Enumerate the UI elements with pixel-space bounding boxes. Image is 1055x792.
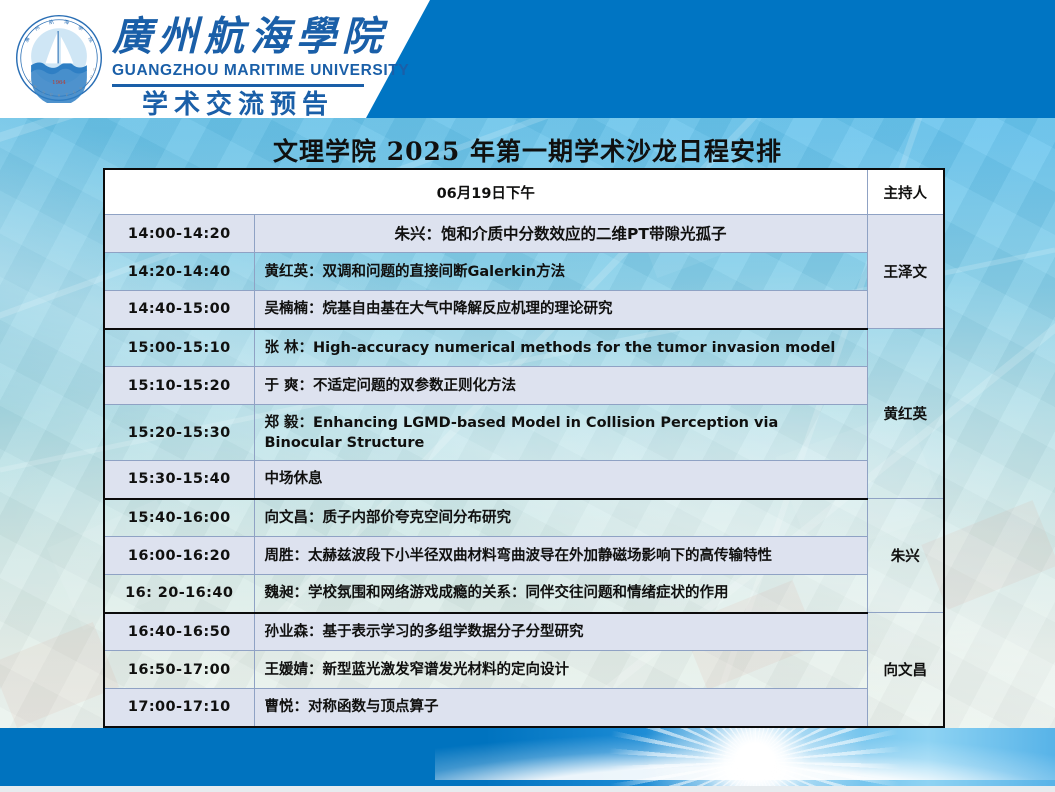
cell-topic: 孙业森：基于表示学习的多组学数据分子分型研究 bbox=[254, 613, 867, 651]
cell-host: 向文昌 bbox=[867, 613, 944, 727]
cell-time: 16:50-17:00 bbox=[104, 651, 254, 689]
cell-time: 15:20-15:30 bbox=[104, 405, 254, 461]
table-row: 16:50-17:00王媛婧：新型蓝光激发窄谱发光材料的定向设计 bbox=[104, 651, 944, 689]
university-seal-icon: 1964 廣 州 航 海 學 院 G U A N G Z H O U M U bbox=[14, 13, 104, 103]
table-row: 14:40-15:00吴楠楠：烷基自由基在大气中降解反应机理的理论研究 bbox=[104, 291, 944, 329]
table-row: 16:00-16:20周胜：太赫兹波段下小半径双曲材料弯曲波导在外加静磁场影响下… bbox=[104, 537, 944, 575]
cell-time: 17:00-17:10 bbox=[104, 689, 254, 727]
table-row: 15:10-15:20于 爽：不适定问题的双参数正则化方法 bbox=[104, 367, 944, 405]
table-row: 15:20-15:30郑 毅：Enhancing LGMD-based Mode… bbox=[104, 405, 944, 461]
page-bottom-edge bbox=[0, 786, 1055, 792]
cell-time: 14:20-14:40 bbox=[104, 253, 254, 291]
cell-host: 王泽文 bbox=[867, 215, 944, 329]
sunburst-icon bbox=[605, 728, 905, 786]
schedule-table-container: 06月19日下午 主持人 14:00-14:20朱兴：饱和介质中分数效应的二维P… bbox=[103, 168, 943, 728]
footer-decoration-band bbox=[0, 728, 1055, 786]
svg-text:1964: 1964 bbox=[52, 80, 66, 86]
cell-topic: 黄红英：双调和问题的直接间断Galerkin方法 bbox=[254, 253, 867, 291]
svg-text:H: H bbox=[58, 94, 61, 98]
cell-time: 14:40-15:00 bbox=[104, 291, 254, 329]
university-wordmark: 廣州航海學院 GUANGZHOU MARITIME UNIVERSITY 学术交… bbox=[112, 14, 409, 118]
cell-topic: 中场休息 bbox=[254, 461, 867, 499]
cell-time: 16:00-16:20 bbox=[104, 537, 254, 575]
cell-topic: 周胜：太赫兹波段下小半径双曲材料弯曲波导在外加静磁场影响下的高传输特性 bbox=[254, 537, 867, 575]
table-row: 16: 20-16:40魏昶：学校氛围和网络游戏成瘾的关系：同伴交往问题和情绪症… bbox=[104, 575, 944, 613]
table-row: 15:30-15:40中场休息 bbox=[104, 461, 944, 499]
cell-time: 15:40-16:00 bbox=[104, 499, 254, 537]
cell-topic: 曹悦：对称函数与顶点算子 bbox=[254, 689, 867, 727]
cell-topic: 魏昶：学校氛围和网络游戏成瘾的关系：同伴交往问题和情绪症状的作用 bbox=[254, 575, 867, 613]
schedule-table-head: 06月19日下午 主持人 bbox=[104, 169, 944, 215]
wordmark-divider bbox=[112, 84, 364, 87]
table-row: 17:00-17:10曹悦：对称函数与顶点算子 bbox=[104, 689, 944, 727]
cell-topic: 吴楠楠：烷基自由基在大气中降解反应机理的理论研究 bbox=[254, 291, 867, 329]
cell-topic: 张 林：High-accuracy numerical methods for … bbox=[254, 329, 867, 367]
cell-time: 15:10-15:20 bbox=[104, 367, 254, 405]
cell-topic: 朱兴：饱和介质中分数效应的二维PT带隙光孤子 bbox=[254, 215, 867, 253]
schedule-table: 06月19日下午 主持人 14:00-14:20朱兴：饱和介质中分数效应的二维P… bbox=[103, 168, 945, 728]
cell-time: 14:00-14:20 bbox=[104, 215, 254, 253]
page-header: 1964 廣 州 航 海 學 院 G U A N G Z H O U M U bbox=[0, 0, 1055, 118]
cell-topic: 于 爽：不适定问题的双参数正则化方法 bbox=[254, 367, 867, 405]
cell-time: 16: 20-16:40 bbox=[104, 575, 254, 613]
table-row: 16:40-16:50孙业森：基于表示学习的多组学数据分子分型研究向文昌 bbox=[104, 613, 944, 651]
page-title: 文理学院 2025 年第一期学术沙龙日程安排 bbox=[0, 132, 1055, 168]
schedule-table-body: 14:00-14:20朱兴：饱和介质中分数效应的二维PT带隙光孤子王泽文14:2… bbox=[104, 215, 944, 727]
table-row: 14:00-14:20朱兴：饱和介质中分数效应的二维PT带隙光孤子王泽文 bbox=[104, 215, 944, 253]
table-row: 14:20-14:40黄红英：双调和问题的直接间断Galerkin方法 bbox=[104, 253, 944, 291]
column-header-date: 06月19日下午 bbox=[104, 169, 867, 215]
cell-host: 朱兴 bbox=[867, 499, 944, 613]
table-header-row: 06月19日下午 主持人 bbox=[104, 169, 944, 215]
university-name-en: GUANGZHOU MARITIME UNIVERSITY bbox=[112, 62, 409, 80]
cell-host: 黄红英 bbox=[867, 329, 944, 499]
cell-time: 15:30-15:40 bbox=[104, 461, 254, 499]
slide-page: 1964 廣 州 航 海 學 院 G U A N G Z H O U M U bbox=[0, 0, 1055, 792]
university-name-cn: 廣州航海學院 bbox=[112, 14, 409, 60]
table-row: 15:40-16:00向文昌：质子内部价夸克空间分布研究朱兴 bbox=[104, 499, 944, 537]
cell-time: 16:40-16:50 bbox=[104, 613, 254, 651]
cell-topic: 王媛婧：新型蓝光激发窄谱发光材料的定向设计 bbox=[254, 651, 867, 689]
header-subtitle-cn: 学术交流预告 bbox=[112, 90, 364, 118]
table-row: 15:00-15:10张 林：High-accuracy numerical m… bbox=[104, 329, 944, 367]
cell-topic: 向文昌：质子内部价夸克空间分布研究 bbox=[254, 499, 867, 537]
cell-time: 15:00-15:10 bbox=[104, 329, 254, 367]
cell-topic: 郑 毅：Enhancing LGMD-based Model in Collis… bbox=[254, 405, 867, 461]
column-header-host: 主持人 bbox=[867, 169, 944, 215]
